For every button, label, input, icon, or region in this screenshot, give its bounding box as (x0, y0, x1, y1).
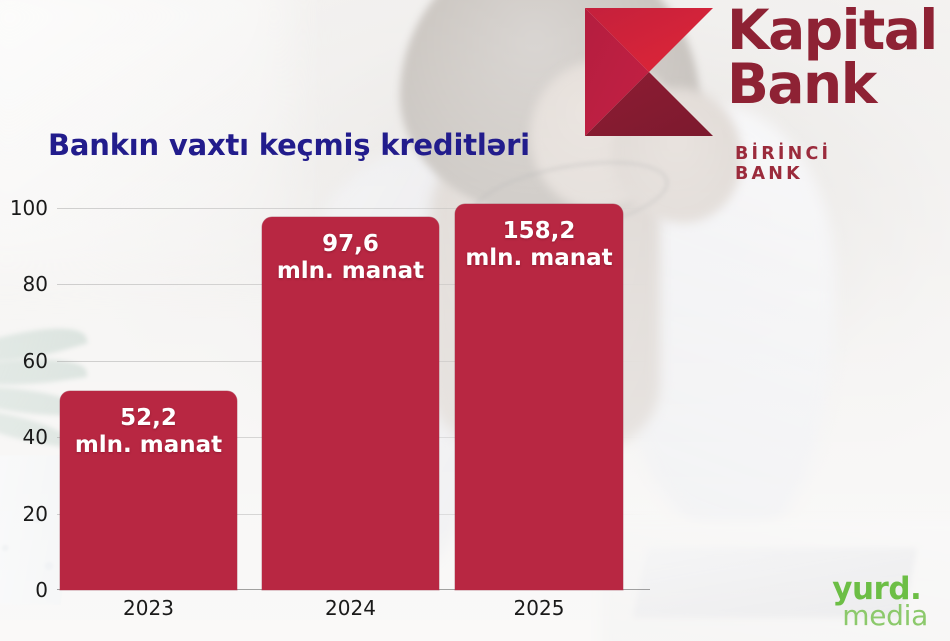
yurd-media-watermark: yurd. media (832, 575, 928, 629)
logo-wordmark-line2: Bank (727, 58, 937, 112)
bar-2025[interactable]: 158,2 mln. manat (455, 204, 623, 590)
y-axis-labels: 100 80 60 40 20 0 (0, 208, 48, 590)
bar-unit-2024: mln. manat (262, 258, 439, 285)
bar-value-2024: 97,6 (262, 231, 439, 258)
bar-unit-2023: mln. manat (60, 432, 237, 459)
bar-value-2025: 158,2 (455, 218, 623, 245)
bar-unit-2025: mln. manat (455, 245, 623, 272)
logo-wordmark: Kapital Bank (727, 4, 937, 112)
x-label-2023: 2023 (60, 596, 237, 620)
bar-label-2025: 158,2 mln. manat (455, 218, 623, 272)
logo-tagline: BİRİNCİ BANK (735, 144, 893, 184)
y-tick-0: 0 (35, 578, 48, 602)
bar-2023[interactable]: 52,2 mln. manat (60, 391, 237, 590)
x-label-2025: 2025 (455, 596, 623, 620)
y-tick-60: 60 (23, 349, 48, 373)
bar-2024[interactable]: 97,6 mln. manat (262, 217, 439, 590)
y-tick-80: 80 (23, 272, 48, 296)
bar-label-2024: 97,6 mln. manat (262, 231, 439, 285)
watermark-bottom-text: media (842, 603, 928, 629)
bar-label-2023: 52,2 mln. manat (60, 405, 237, 459)
kapital-bank-logo: Kapital Bank BİRİNCİ BANK (583, 8, 893, 168)
bar-chart: 100 80 60 40 20 0 52,2 mln. manat (0, 190, 950, 641)
x-label-2024: 2024 (262, 596, 439, 620)
y-tick-100: 100 (10, 196, 48, 220)
bar-value-2023: 52,2 (60, 405, 237, 432)
page-title: Bankın vaxtı keçmiş kreditləri (48, 128, 530, 162)
plot-area: 52,2 mln. manat 97,6 mln. manat 158,2 ml… (57, 208, 650, 590)
y-tick-40: 40 (23, 425, 48, 449)
x-axis-labels: 2023 2024 2025 (57, 596, 650, 636)
kapital-bank-k-mark-icon (583, 8, 715, 136)
y-tick-20: 20 (23, 502, 48, 526)
infographic-canvas: Kapital Bank BİRİNCİ BANK Bankın vaxtı k… (0, 0, 950, 641)
